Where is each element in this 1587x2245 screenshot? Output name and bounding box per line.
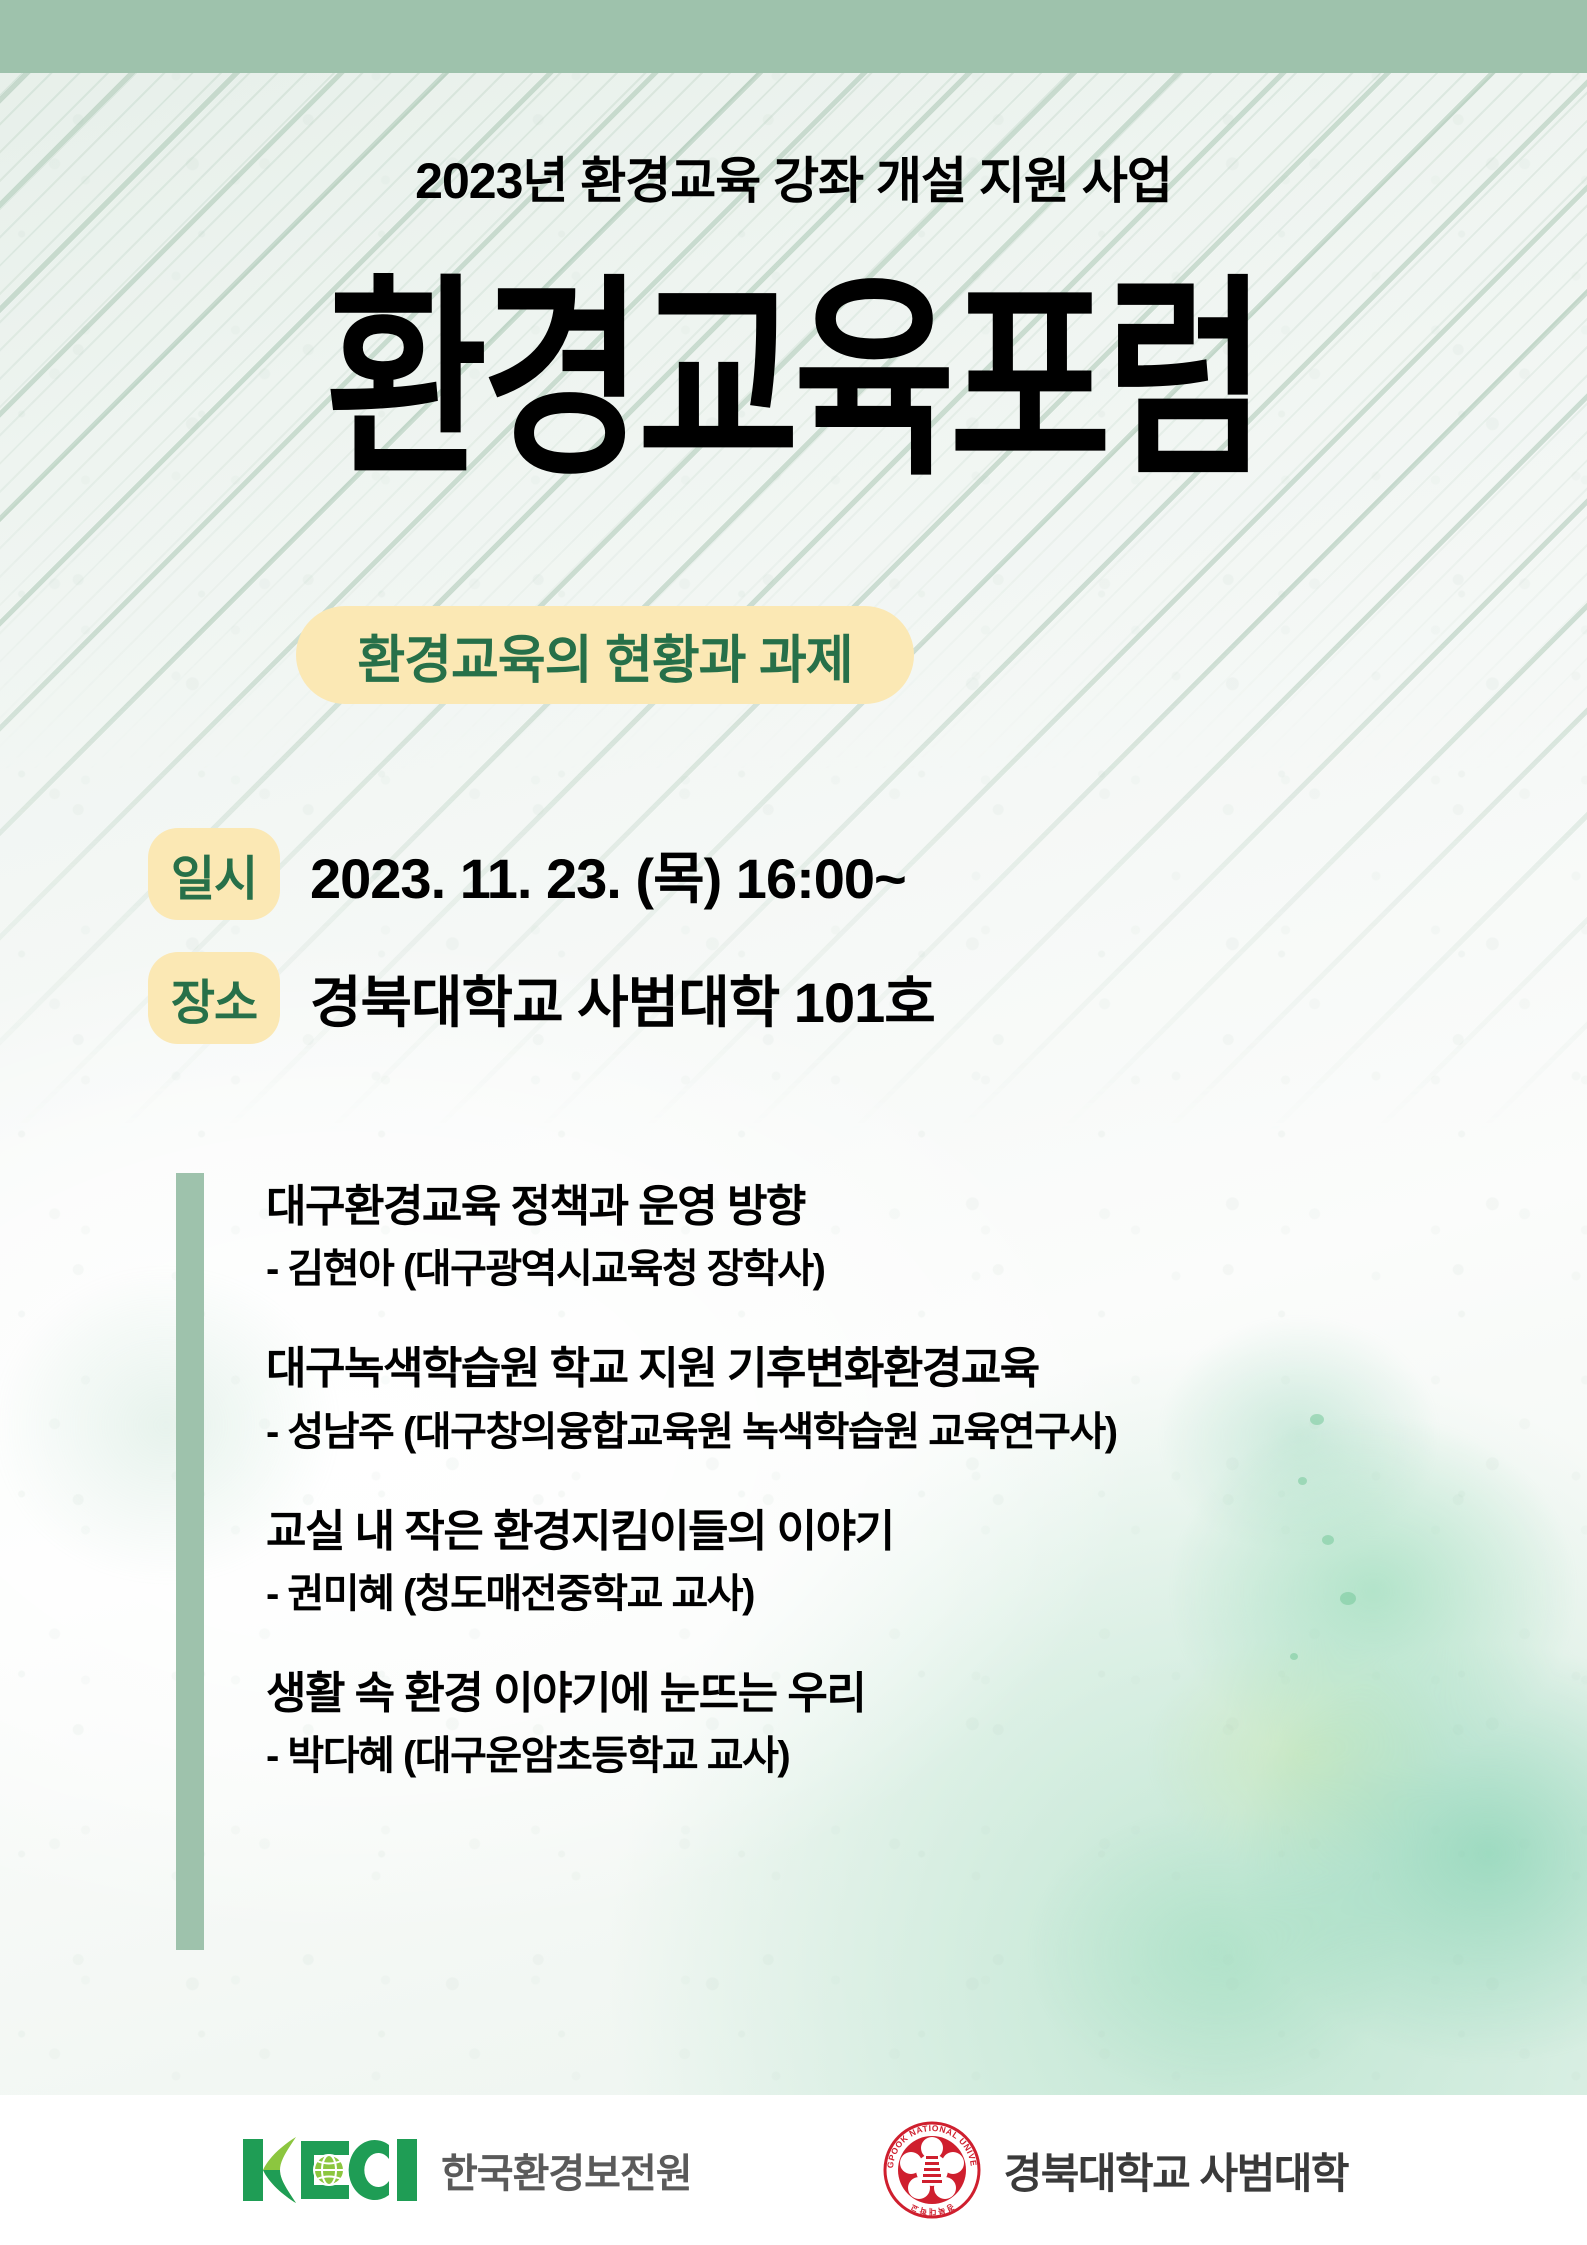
program-speaker: - 성남주 (대구창의융합교육원 녹색학습원 교육연구사) [266,1405,1466,1459]
date-value: 2023. 11. 23. (목) 16:00~ [310,834,906,915]
footer-logo-row: 한국환경보전원 [0,2095,1587,2245]
poster-content: 2023년 환경교육 강좌 개설 지원 사업 환경교육포럼 환경교육의 현황과 … [0,0,1587,2245]
program-speaker: - 권미혜 (청도매전중학교 교사) [266,1567,1466,1621]
keci-logo-group: 한국환경보전원 [239,2133,692,2207]
place-label-badge: 장소 [148,952,280,1044]
program-accent-bar [176,1173,204,1950]
date-label-badge: 일시 [148,828,280,920]
program-title: 교실 내 작은 환경지킴이들의 이야기 [266,1503,1466,1561]
date-label-text: 일시 [171,839,257,909]
place-label-text: 장소 [171,963,257,1033]
subtitle-text: 환경교육의 현황과 과제 [357,618,852,693]
poster-eyebrow: 2023년 환경교육 강좌 개설 지원 사업 [0,141,1587,213]
program-title: 생활 속 환경 이야기에 눈뜨는 우리 [266,1665,1466,1723]
poster-canvas: 2023년 환경교육 강좌 개설 지원 사업 환경교육포럼 환경교육의 현황과 … [0,0,1587,2245]
info-row-date: 일시 2023. 11. 23. (목) 16:00~ [148,828,906,920]
keci-logo-icon [239,2133,419,2207]
program-speaker: - 박다혜 (대구운암초등학교 교사) [266,1729,1466,1783]
program-item: 대구환경교육 정책과 운영 방향 - 김현아 (대구광역시교육청 장학사) [266,1178,1466,1296]
program-item: 교실 내 작은 환경지킴이들의 이야기 - 권미혜 (청도매전중학교 교사) [266,1503,1466,1621]
program-title: 대구녹색학습원 학교 지원 기후변화환경교육 [266,1340,1466,1398]
program-list: 대구환경교육 정책과 운영 방향 - 김현아 (대구광역시교육청 장학사) 대구… [266,1178,1466,1784]
program-speaker: - 김현아 (대구광역시교육청 장학사) [266,1242,1466,1296]
keci-name-text: 한국환경보전원 [441,2141,692,2199]
knu-logo-group: KYUNGPOOK NATIONAL UNIVERSITY 경북대학교 경북대학… [882,2120,1348,2220]
knu-name-text: 경북대학교 사범대학 [1004,2140,1348,2201]
program-item: 대구녹색학습원 학교 지원 기후변화환경교육 - 성남주 (대구창의융합교육원 … [266,1340,1466,1458]
place-value: 경북대학교 사범대학 101호 [310,958,935,1039]
subtitle-badge: 환경교육의 현황과 과제 [296,606,914,704]
poster-title: 환경교육포럼 [0,274,1587,489]
program-title: 대구환경교육 정책과 운영 방향 [266,1178,1466,1236]
program-item: 생활 속 환경 이야기에 눈뜨는 우리 - 박다혜 (대구운암초등학교 교사) [266,1665,1466,1783]
info-row-place: 장소 경북대학교 사범대학 101호 [148,952,935,1044]
knu-seal-icon: KYUNGPOOK NATIONAL UNIVERSITY 경북대학교 [882,2120,982,2220]
